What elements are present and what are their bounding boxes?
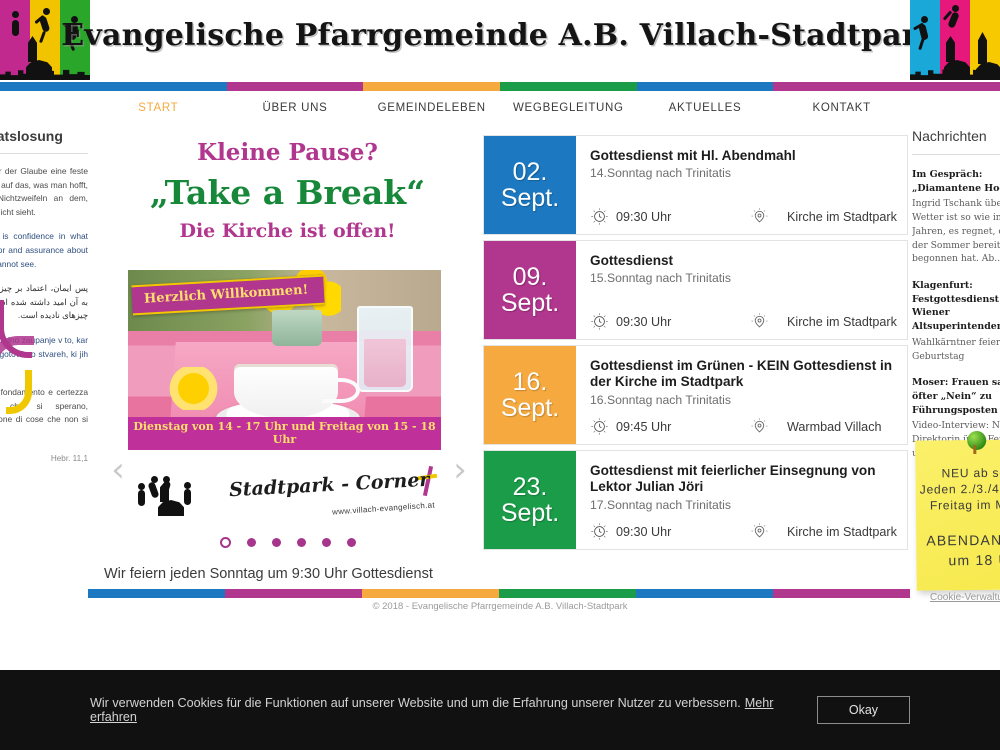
news-item[interactable]: Im Gespräch: „Diamantene Hochzeit“ Ingri… <box>912 168 1000 266</box>
event-title: Gottesdienst mit feierlicher Einsegnung … <box>590 463 897 496</box>
cookie-message-text: Wir verwenden Cookies für die Funktionen… <box>90 696 741 710</box>
hero-slider[interactable]: Kleine Pause? „Take a Break“ Die Kirche … <box>100 130 475 560</box>
cookie-okay-button[interactable]: Okay <box>817 696 910 724</box>
news-title: Moser: Frauen sagen öfter „Nein“ zu Führ… <box>912 376 1000 417</box>
event-location-label: Kirche im Stadtpark <box>787 525 897 539</box>
nav-item-aktuelles[interactable]: AKTUELLES <box>637 102 774 114</box>
event-row[interactable]: 09. Sept. Gottesdienst 15.Sonntag nach T… <box>483 240 908 340</box>
decorative-swoosh-graphic <box>0 300 58 420</box>
event-day: 16. <box>513 369 548 396</box>
event-meta: 09:30 Uhr Kirche im Stadtpark <box>590 207 897 226</box>
stadtpark-corner-logo: Stadtpark - Corner www.villach-evangelis… <box>128 466 441 528</box>
event-time: 09:45 Uhr <box>590 417 750 436</box>
stripe-segment <box>773 82 910 91</box>
clock-icon <box>590 417 609 436</box>
slide-headline-3: Die Kirche ist offen! <box>100 220 475 242</box>
event-date-box: 02. Sept. <box>484 136 576 234</box>
divider <box>912 154 1000 155</box>
stripe-segment <box>363 82 500 91</box>
slider-next-arrow-icon[interactable]: › <box>446 448 474 492</box>
event-subtitle: 16.Sonntag nach Trinitatis <box>590 393 897 407</box>
event-time-label: 09:30 Uhr <box>616 210 671 224</box>
event-month: Sept. <box>501 395 559 422</box>
slider-dot[interactable] <box>247 538 256 547</box>
stripe-segment <box>773 589 910 598</box>
stripe-segment <box>225 589 362 598</box>
footer-color-stripe <box>88 589 910 598</box>
event-subtitle: 17.Sonntag nach Trinitatis <box>590 498 897 512</box>
banner-panel <box>910 0 940 80</box>
news-item[interactable]: Klagenfurt: Festgottesdienst für Wiener … <box>912 279 1000 363</box>
stripe-segment <box>499 589 636 598</box>
sticky-note: NEU ab sofort Jeden 2./3./4. Freitag im … <box>915 439 1000 590</box>
news-title: Klagenfurt: Festgottesdienst für Wiener … <box>912 279 1000 334</box>
stripe-segment <box>227 82 364 91</box>
stripe-segment <box>90 82 227 91</box>
nav-item-gemeindeleben[interactable]: GEMEINDELEBEN <box>363 102 500 114</box>
event-date-box: 23. Sept. <box>484 451 576 549</box>
event-body: Gottesdienst im Grünen - KEIN Gottesdien… <box>576 346 907 444</box>
nav-items: START ÜBER UNS GEMEINDELEBEN WEGBEGLEITU… <box>90 91 910 125</box>
verse-english: Now faith is confidence in what we hope … <box>0 230 88 271</box>
event-time: 09:30 Uhr <box>590 312 750 331</box>
slider-dot[interactable] <box>322 538 331 547</box>
verse-reference: Hebr. 11,1 <box>0 454 88 463</box>
location-pin-icon <box>750 522 769 541</box>
stripe-segment <box>88 589 225 598</box>
banner-panel <box>970 0 1000 80</box>
event-title: Gottesdienst mit Hl. Abendmahl <box>590 148 897 164</box>
slider-dot[interactable] <box>220 537 231 548</box>
event-location: Kirche im Stadtpark <box>750 522 897 541</box>
event-day: 23. <box>513 474 548 501</box>
footer-service-note: Wir feiern jeden Sonntag um 9:30 Uhr Got… <box>104 566 433 582</box>
divider <box>0 153 88 154</box>
stripe-segment <box>636 589 773 598</box>
pushpin-icon <box>967 431 986 450</box>
clock-icon <box>590 522 609 541</box>
banner-panel <box>940 0 970 80</box>
event-subtitle: 15.Sonntag nach Trinitatis <box>590 271 897 285</box>
site-header: Evangelische Pfarrgemeinde A.B. Villach-… <box>0 0 1000 80</box>
slide-headline-1: Kleine Pause? <box>100 139 475 166</box>
slider-dots <box>100 534 475 552</box>
nav-edge-left <box>0 82 90 91</box>
sticky-line-2: Jeden 2./3./4. <box>920 482 1000 497</box>
event-month: Sept. <box>501 500 559 527</box>
cookie-message: Wir verwenden Cookies für die Funktionen… <box>90 696 817 724</box>
event-body: Gottesdienst mit feierlicher Einsegnung … <box>576 451 907 549</box>
nav-item-kontakt[interactable]: KONTAKT <box>773 102 910 114</box>
event-time-label: 09:30 Uhr <box>616 315 671 329</box>
slider-dot[interactable] <box>272 538 281 547</box>
location-pin-icon <box>750 207 769 226</box>
event-time-label: 09:45 Uhr <box>616 420 671 434</box>
sticky-line-4: ABENDANDACHT <box>926 531 1000 548</box>
clock-icon <box>590 207 609 226</box>
event-month: Sept. <box>501 290 559 317</box>
event-location: Kirche im Stadtpark <box>750 207 897 226</box>
page-bottom-spacer <box>0 616 1000 670</box>
event-month: Sept. <box>501 185 559 212</box>
event-row[interactable]: 23. Sept. Gottesdienst mit feierlicher E… <box>483 450 908 550</box>
news-title: Im Gespräch: „Diamantene Hochzeit“ <box>912 168 1000 195</box>
event-body: Gottesdienst mit Hl. Abendmahl 14.Sonnta… <box>576 136 907 234</box>
nav-edge-right <box>910 82 1000 91</box>
event-meta: 09:30 Uhr Kirche im Stadtpark <box>590 312 897 331</box>
opening-hours-label: Dienstag von 14 - 17 Uhr und Freitag von… <box>128 417 441 450</box>
event-row[interactable]: 02. Sept. Gottesdienst mit Hl. Abendmahl… <box>483 135 908 235</box>
event-time: 09:30 Uhr <box>590 207 750 226</box>
monatslosung-heading: Monatslosung <box>0 128 88 144</box>
nav-item-ueber-uns[interactable]: ÜBER UNS <box>227 102 364 114</box>
slide-headline-2: „Take a Break“ <box>100 173 475 212</box>
event-location: Kirche im Stadtpark <box>750 312 897 331</box>
nav-item-start[interactable]: START <box>90 102 227 114</box>
event-date-box: 09. Sept. <box>484 241 576 339</box>
slider-dot[interactable] <box>297 538 306 547</box>
event-time-label: 09:30 Uhr <box>616 525 671 539</box>
event-row[interactable]: 16. Sept. Gottesdienst im Grünen - KEIN … <box>483 345 908 445</box>
event-title: Gottesdienst im Grünen - KEIN Gottesdien… <box>590 358 897 391</box>
nav-item-wegbegleitung[interactable]: WEGBEGLEITUNG <box>500 102 637 114</box>
event-time: 09:30 Uhr <box>590 522 750 541</box>
slider-dot[interactable] <box>347 538 356 547</box>
event-date-box: 16. Sept. <box>484 346 576 444</box>
page-title: Evangelische Pfarrgemeinde A.B. Villach-… <box>95 4 905 66</box>
event-title: Gottesdienst <box>590 253 897 269</box>
nav-color-stripe <box>90 82 910 91</box>
logo-url: www.villach-evangelisch.at <box>332 500 435 516</box>
event-location-label: Kirche im Stadtpark <box>787 315 897 329</box>
event-day: 02. <box>513 159 548 186</box>
news-text: Ingrid Tschank über Das Wetter ist so wi… <box>912 197 1000 266</box>
nachrichten-heading: Nachrichten <box>912 128 1000 144</box>
verse-german: Es ist aber der Glaube eine feste Zuvers… <box>0 165 88 219</box>
event-subtitle: 14.Sonntag nach Trinitatis <box>590 166 897 180</box>
header-banner-right <box>910 0 1000 80</box>
slide-photo: Herzlich Willkommen! Dienstag von 14 - 1… <box>128 270 441 450</box>
page-root: Evangelische Pfarrgemeinde A.B. Villach-… <box>0 0 1000 750</box>
event-location-label: Kirche im Stadtpark <box>787 210 897 224</box>
stripe-segment <box>500 82 637 91</box>
event-body: Gottesdienst 15.Sonntag nach Trinitatis … <box>576 241 907 339</box>
event-day: 09. <box>513 264 548 291</box>
stripe-segment <box>362 589 499 598</box>
cookie-consent-bar: Wir verwenden Cookies für die Funktionen… <box>0 670 1000 750</box>
event-meta: 09:45 Uhr Warmbad Villach <box>590 417 897 436</box>
event-list: 02. Sept. Gottesdienst mit Hl. Abendmahl… <box>483 135 908 555</box>
sticky-line-1: NEU ab sofort <box>941 465 1000 480</box>
sticky-line-3: Freitag im Monat <box>930 497 1000 512</box>
banner-panel <box>30 0 60 80</box>
event-location: Warmbad Villach <box>750 417 882 436</box>
stripe-segment <box>637 82 774 91</box>
copyright-text: © 2018 - Evangelische Pfarrgemeinde A.B.… <box>0 601 1000 612</box>
clock-icon <box>590 312 609 331</box>
location-pin-icon <box>750 312 769 331</box>
location-pin-icon <box>750 417 769 436</box>
sticky-line-5: um 18 Uhr <box>948 551 1000 568</box>
news-text: Wahlkärntner feierte 80. Geburtstag <box>912 336 1000 364</box>
event-meta: 09:30 Uhr Kirche im Stadtpark <box>590 522 897 541</box>
main-navigation: START ÜBER UNS GEMEINDELEBEN WEGBEGLEITU… <box>90 82 910 125</box>
event-location-label: Warmbad Villach <box>787 420 882 434</box>
